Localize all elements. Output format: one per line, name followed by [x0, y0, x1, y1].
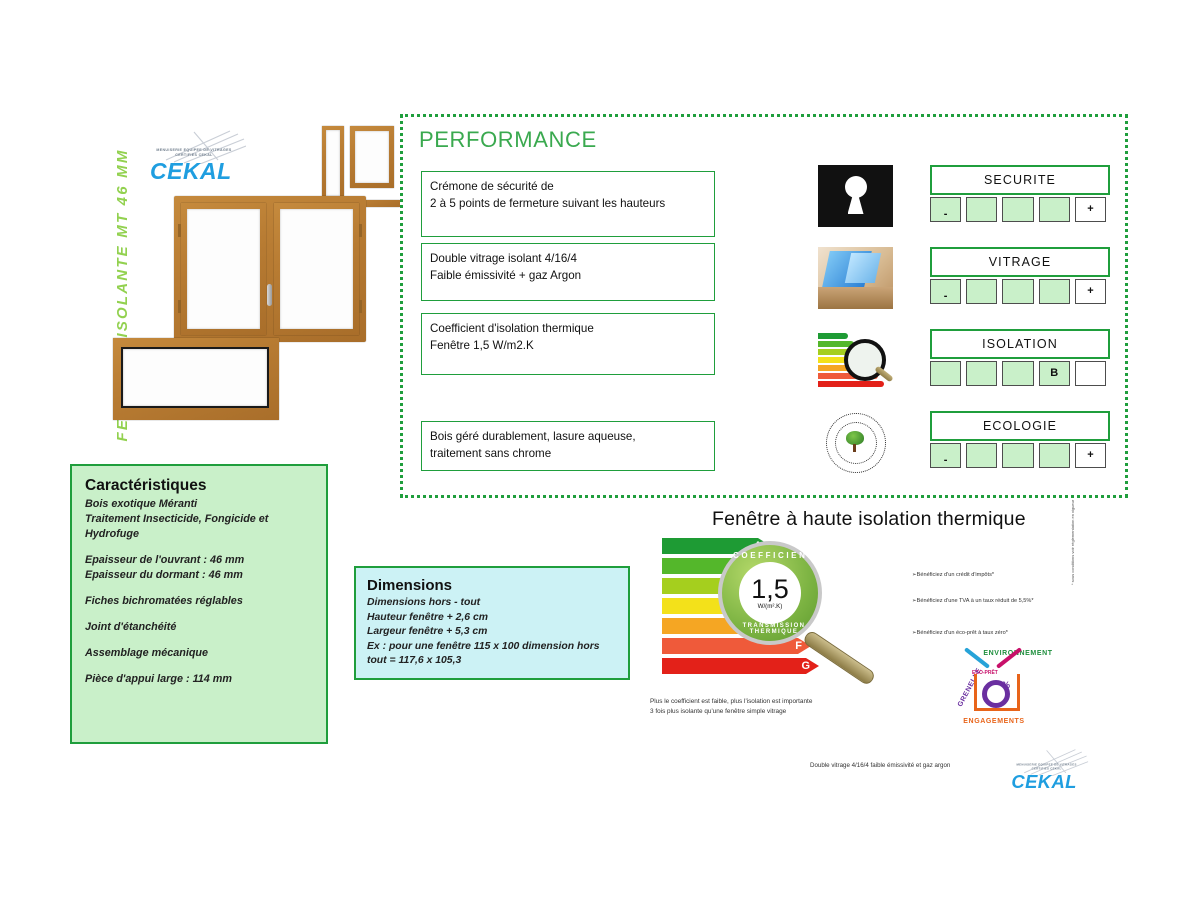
- cekal-wordmark: CEKAL: [1011, 771, 1076, 793]
- rating-cell[interactable]: [966, 443, 997, 468]
- rating-cell[interactable]: [1002, 197, 1033, 222]
- rating-cell[interactable]: [966, 361, 997, 386]
- coefficient-value: 1,5: [751, 576, 789, 602]
- rating-cell[interactable]: [1075, 361, 1106, 386]
- caracteristiques-title: Caractéristiques: [85, 477, 313, 495]
- rating-cell[interactable]: [1039, 197, 1070, 222]
- rating-cell[interactable]: -: [930, 197, 961, 222]
- cekal-subtitle: MENUISERIE EQUIPEE DE VITRAGES CERTIFIES…: [146, 148, 242, 158]
- datasheet-page: FENETRES ISOLANTE MT 46 MM MENUISERIE EQ…: [0, 0, 1202, 901]
- rating-cell[interactable]: [1039, 443, 1070, 468]
- grenelle-environnement-logo: ENVIRONNEMENT GRENELLE ECO-PRÊT % ENGAGE…: [942, 648, 1046, 734]
- promo-bullet: ➢Bénéficiez d'un éco-prêt à taux zéro*: [912, 630, 1008, 636]
- eco-pret-label: ECO-PRÊT: [972, 670, 998, 676]
- rating-cell[interactable]: +: [1075, 279, 1106, 304]
- rating-label: VITRAGE: [930, 247, 1110, 277]
- glazing-photo-icon: [818, 247, 893, 309]
- performance-feature-box: Crémone de sécurité de2 à 5 points de fe…: [421, 171, 715, 237]
- carac-line: Joint d'étanchéité: [85, 620, 313, 635]
- double-casement-window-photo: [174, 196, 366, 342]
- rating-cell[interactable]: -: [930, 443, 961, 468]
- carac-line: Pièce d'appui large : 114 mm: [85, 672, 313, 687]
- rating-cell[interactable]: +: [1075, 443, 1106, 468]
- performance-feature-box: Double vitrage isolant 4/16/4Faible émis…: [421, 243, 715, 301]
- dimensions-title: Dimensions: [367, 577, 617, 594]
- carac-line: Bois exotique Méranti: [85, 497, 313, 512]
- dimensions-box: Dimensions Dimensions hors - tout Hauteu…: [354, 566, 630, 680]
- badge-arc-top-label: COEFFICIENT: [722, 551, 826, 560]
- rating-cell[interactable]: [1002, 443, 1033, 468]
- carac-line: Epaisseur de l'ouvrant : 46 mm: [85, 553, 313, 568]
- dimension-line: Dimensions hors - tout: [367, 596, 617, 611]
- cekal-caption: Double vitrage 4/16/4 faible émissivité …: [810, 762, 950, 769]
- promo-title: Fenêtre à haute isolation thermique: [712, 508, 1092, 531]
- energy-note: Plus le coefficient est faible, plus l'i…: [650, 697, 900, 716]
- dimension-line: Hauteur fenêtre + 2,6 cm: [367, 611, 617, 626]
- rating-cell[interactable]: +: [1075, 197, 1106, 222]
- performance-feature-box: Coefficient d'isolation thermiqueFenêtre…: [421, 313, 715, 375]
- rating-cell[interactable]: [966, 279, 997, 304]
- cekal-wordmark: CEKAL: [150, 158, 232, 185]
- performance-feature-box: Bois géré durablement, lasure aqueuse,tr…: [421, 421, 715, 471]
- cekal-logo-bottom: MENUISERIE EQUIPEE DE VITRAGES CERTIFIES…: [1005, 752, 1077, 789]
- carac-line: Traitement Insecticide, Fongicide et Hyd…: [85, 512, 313, 542]
- energy-bar-letter: F: [795, 638, 802, 654]
- carac-line: Assemblage mécanique: [85, 646, 313, 661]
- cekal-logo-top: MENUISERIE EQUIPEE DE VITRAGES CERTIFIES…: [142, 134, 252, 190]
- performance-panel: PERFORMANCE Crémone de sécurité de2 à 5 …: [400, 114, 1128, 498]
- carac-line: Fiches bichromatées réglables: [85, 594, 313, 609]
- eco-tree-stamp-icon: [818, 411, 893, 473]
- caracteristiques-box: Caractéristiques Bois exotique Méranti T…: [70, 464, 328, 744]
- performance-title: PERFORMANCE: [419, 127, 597, 153]
- percent-label: %: [1002, 680, 1010, 690]
- grenelle-word-bottom: ENGAGEMENTS: [942, 718, 1046, 725]
- rating-scale[interactable]: - +: [930, 279, 1106, 304]
- dimension-line: Ex : pour une fenêtre 115 x 100 dimensio…: [367, 640, 617, 669]
- rating-cell[interactable]: -: [930, 279, 961, 304]
- rating-cell[interactable]: [1002, 361, 1033, 386]
- rating-scale[interactable]: - +: [930, 197, 1106, 222]
- coefficient-badge: COEFFICIENT 1,5 W/(m².K) TRANSMISSION TH…: [718, 541, 822, 645]
- promo-bullet: ➢Bénéficiez d'un crédit d'impôts*: [912, 572, 994, 578]
- rating-label: ECOLOGIE: [930, 411, 1110, 441]
- transom-window-photo: [113, 338, 279, 420]
- rating-scale[interactable]: - +: [930, 443, 1106, 468]
- energy-bar-g: G: [662, 658, 806, 674]
- rating-cell-b[interactable]: B: [1039, 361, 1070, 386]
- energy-magnifier-icon: [818, 329, 893, 391]
- coefficient-unit: W/(m².K): [758, 603, 783, 610]
- rating-cell[interactable]: [1002, 279, 1033, 304]
- rating-label: SECURITE: [930, 165, 1110, 195]
- rating-scale[interactable]: B: [930, 361, 1106, 386]
- energy-bar-letter: G: [801, 658, 810, 674]
- rating-label: ISOLATION: [930, 329, 1110, 359]
- rating-cell[interactable]: [930, 361, 961, 386]
- promo-bullet: ➢Bénéficiez d'une TVA à un taux réduit d…: [912, 598, 1034, 604]
- carac-line: Epaisseur du dormant : 46 mm: [85, 568, 313, 583]
- legal-fineprint: * sous conditions voir réglementation en…: [1070, 495, 1075, 585]
- dimension-line: Largeur fenêtre + 5,3 cm: [367, 625, 617, 640]
- rating-cell[interactable]: [1039, 279, 1070, 304]
- keyhole-lock-icon: [818, 165, 893, 227]
- cekal-subtitle: MENUISERIE EQUIPEE DE VITRAGES CERTIFIES…: [1008, 763, 1085, 771]
- rating-cell[interactable]: [966, 197, 997, 222]
